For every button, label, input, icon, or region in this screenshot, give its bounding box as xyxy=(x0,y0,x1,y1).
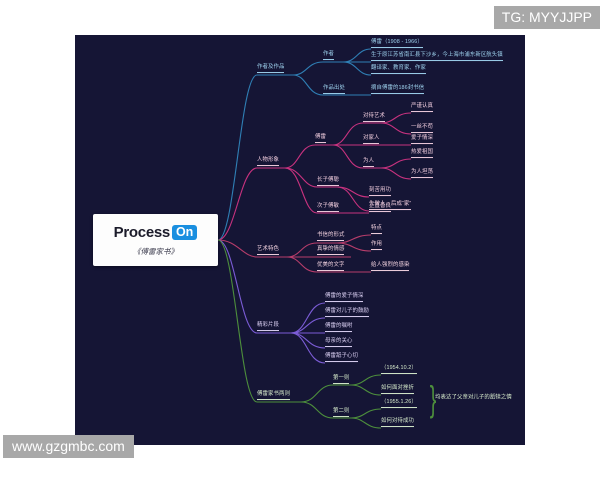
node-label-letter-form-function[interactable]: 作用 xyxy=(371,242,382,250)
node-label-upright[interactable]: 为人坦荡 xyxy=(411,170,433,178)
node-label-loving-son[interactable]: 爱子情深 xyxy=(411,136,433,144)
node-label-author-birthplace[interactable]: 生于原江苏省南汇县下沙乡，今上海市浦东新区航头镇 xyxy=(371,53,503,61)
node-label-excerpt-1[interactable]: 傅雷的爱子情深 xyxy=(325,294,363,302)
node-label-toward-family[interactable]: 对家人 xyxy=(363,136,379,144)
node-label-second-letter-topic[interactable]: 如何对待成功 xyxy=(381,419,414,427)
node-label-excerpt-4[interactable]: 母亲的关心 xyxy=(325,339,352,347)
node-label-rigorous[interactable]: 严谨认真 xyxy=(411,104,433,112)
node-label-honest-kind[interactable]: 正直善良 xyxy=(369,204,391,212)
node-label-second-letter[interactable]: 第二则 xyxy=(333,409,349,417)
node-label-strong-appeal[interactable]: 给人强烈的感染 xyxy=(371,263,409,271)
node-label-letters-annotation: 均表达了父亲对儿子的舐犊之情 xyxy=(435,396,512,403)
node-label-author-name-dates[interactable]: 傅雷（1908 - 1966） xyxy=(371,40,423,48)
node-label-work-source-detail[interactable]: 摘自傅雷的186封书信 xyxy=(371,86,424,94)
branch-label-characters[interactable]: 人物形象 xyxy=(257,158,279,166)
root-node[interactable]: Process On 《傅雷家书》 xyxy=(93,214,218,266)
node-label-first-letter[interactable]: 第一则 xyxy=(333,376,349,384)
node-label-beautiful-words[interactable]: 优美的文字 xyxy=(317,263,344,271)
branch-label-excerpts[interactable]: 精彩片段 xyxy=(257,323,279,331)
node-label-letter-form-traits[interactable]: 特点 xyxy=(371,226,382,234)
node-label-meticulous[interactable]: 一丝不苟 xyxy=(411,125,433,133)
node-label-toward-art[interactable]: 对待艺术 xyxy=(363,114,385,122)
node-label-character[interactable]: 为人 xyxy=(363,159,374,167)
node-label-first-letter-date[interactable]: （1954.10.2） xyxy=(381,366,417,374)
node-label-first-letter-topic[interactable]: 如何面对挫折 xyxy=(381,386,414,394)
watermark-top-right: TG: MYYJJPP xyxy=(494,6,600,29)
processon-logo-text: Process xyxy=(114,224,170,241)
node-label-excerpt-5[interactable]: 傅雷舐子心切 xyxy=(325,354,358,362)
node-label-excerpt-3[interactable]: 傅雷的嘱咐 xyxy=(325,324,352,332)
node-label-second-letter-date[interactable]: （1955.1.26） xyxy=(381,400,417,408)
node-label-diligent[interactable]: 刻苦用功 xyxy=(369,188,391,196)
node-label-author-professions[interactable]: 翻译家、教育家、作家 xyxy=(371,66,426,74)
root-node-subtitle: 《傅雷家书》 xyxy=(133,246,178,257)
branch-label-artistic-features[interactable]: 艺术特色 xyxy=(257,247,279,255)
node-label-work-source[interactable]: 作品出处 xyxy=(323,86,345,94)
branch-label-author-works[interactable]: 作者及作品 xyxy=(257,65,284,73)
watermark-bottom-left: www.gzgmbc.com xyxy=(3,435,134,458)
node-label-elder-son[interactable]: 长子傅聪 xyxy=(317,178,339,186)
node-label-letter-form[interactable]: 书信的形式 xyxy=(317,233,344,241)
processon-logo: Process On xyxy=(114,224,198,241)
node-label-author[interactable]: 作者 xyxy=(323,52,334,60)
processon-logo-badge: On xyxy=(172,225,197,241)
branch-label-two-letters[interactable]: 傅雷家书两则 xyxy=(257,392,290,400)
mindmap-canvas[interactable]: Process On 《傅雷家书》 作者及作品 作者 傅雷（1908 - 196… xyxy=(75,35,525,445)
node-label-younger-son[interactable]: 次子傅敏 xyxy=(317,204,339,212)
node-label-excerpt-2[interactable]: 傅雷对儿子的鼓励 xyxy=(325,309,369,317)
node-label-patriotic[interactable]: 热爱祖国 xyxy=(411,150,433,158)
node-label-fulei[interactable]: 傅雷 xyxy=(315,135,326,143)
node-label-sincere-emotion[interactable]: 真挚的情感 xyxy=(317,247,344,255)
